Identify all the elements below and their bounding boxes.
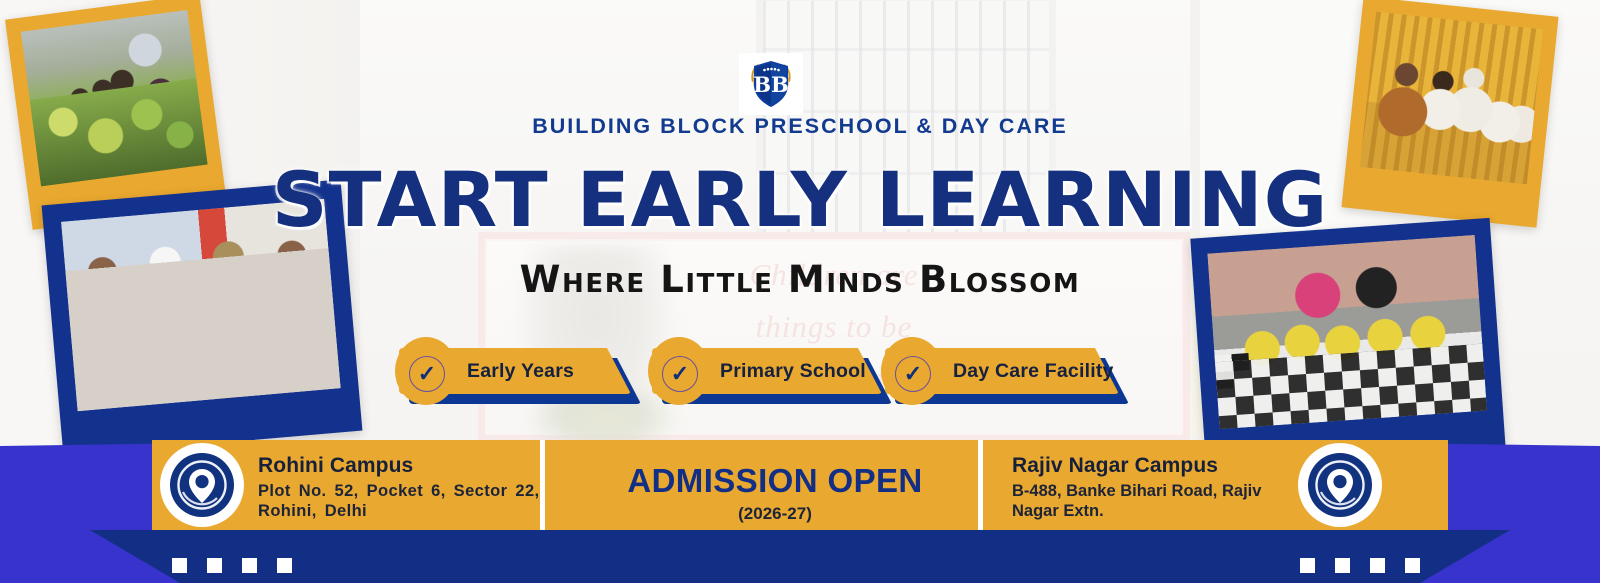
feature-pill-label: Primary School xyxy=(720,360,866,383)
footer-bar: Rohini Campus Plot No. 52, Pocket 6, Sec… xyxy=(0,440,1600,583)
location-pin-icon xyxy=(160,443,244,527)
admission-open-block: ADMISSION OPEN (2026-27) xyxy=(560,462,990,524)
footer-dot xyxy=(1370,558,1385,573)
feature-pill-list: ✓ Early Years ✓ Primary School ✓ Day Car… xyxy=(399,348,1159,410)
location-pin-icon xyxy=(1298,443,1382,527)
shield-bb-laurel-logo: BB xyxy=(739,53,803,115)
footer-dot xyxy=(1300,558,1315,573)
feature-pill-label: Early Years xyxy=(467,360,574,383)
campus-name: Rohini Campus xyxy=(258,454,558,478)
footer-dot xyxy=(1405,558,1420,573)
footer-dot xyxy=(1335,558,1350,573)
check-mark-icon: ✓ xyxy=(662,356,698,392)
feature-pill-label: Day Care Facility xyxy=(953,360,1114,383)
admission-session: (2026-27) xyxy=(560,504,990,524)
feature-pill-early-years[interactable]: ✓ Early Years xyxy=(399,348,631,394)
page-title: START EARLY LEARNING xyxy=(0,156,1600,244)
admission-title: ADMISSION OPEN xyxy=(560,462,990,500)
footer-dot xyxy=(242,558,257,573)
footer-dot xyxy=(207,558,222,573)
campus-name: Rajiv Nagar Campus xyxy=(1012,454,1312,478)
feature-pill-day-care-facility[interactable]: ✓ Day Care Facility xyxy=(885,348,1119,394)
campus-info-rohini: Rohini Campus Plot No. 52, Pocket 6, Sec… xyxy=(258,454,558,521)
children-uniform-school-visit-photo xyxy=(1190,218,1505,470)
page-subtitle: Where Little Minds Blossom xyxy=(0,258,1600,301)
campus-address: Plot No. 52, Pocket 6, Sector 22, Rohini… xyxy=(258,481,558,521)
promotional-banner: Children are things to be to be unfolded… xyxy=(0,0,1600,583)
footer-dots-left xyxy=(172,558,292,573)
footer-dots-right xyxy=(1300,558,1420,573)
footer-dot xyxy=(172,558,187,573)
campus-address: B-488, Banke Bihari Road, Rajiv Nagar Ex… xyxy=(1012,481,1312,521)
footer-navy-chevron xyxy=(90,530,1510,583)
campus-info-rajiv-nagar: Rajiv Nagar Campus B-488, Banke Bihari R… xyxy=(1012,454,1312,521)
brand-name: BUILDING BLOCK PRESCHOOL & DAY CARE xyxy=(0,114,1600,139)
check-mark-icon: ✓ xyxy=(409,356,445,392)
feature-pill-primary-school[interactable]: ✓ Primary School xyxy=(652,348,882,394)
check-mark-icon: ✓ xyxy=(895,356,931,392)
svg-text:BB: BB xyxy=(753,72,789,97)
footer-dot xyxy=(277,558,292,573)
